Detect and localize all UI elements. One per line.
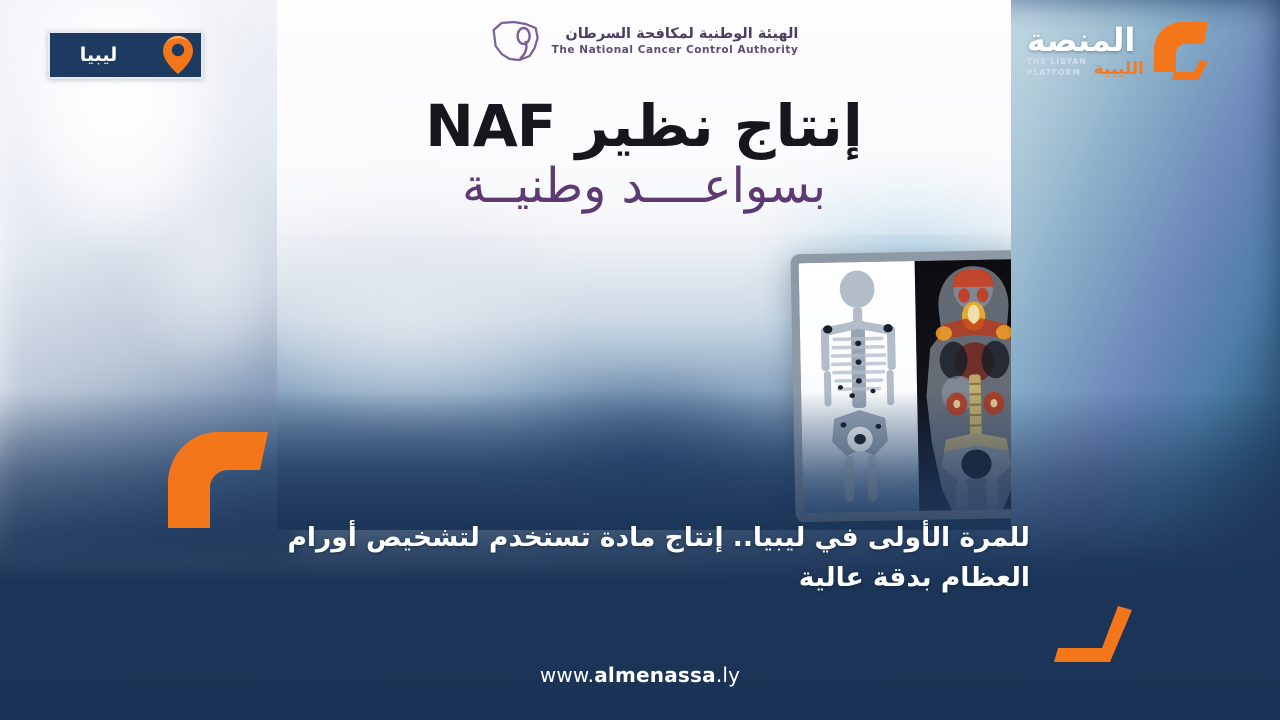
authority-header: الهيئة الوطنية لمكافحة السرطان The Natio…: [490, 18, 799, 64]
authority-name-english: The National Cancer Control Authority: [552, 44, 799, 56]
brand-name-english-line1: THE LIBYAN: [1027, 57, 1087, 67]
brand-name-arabic: المنصة: [1027, 24, 1144, 56]
authority-name-arabic: الهيئة الوطنية لمكافحة السرطان: [552, 26, 799, 43]
url-brand: almenassa: [594, 663, 716, 687]
brand-name-english: THE LIBYAN PLATFORM: [1027, 57, 1087, 77]
url-tld: .ly: [716, 663, 740, 687]
headline-acronym: NAF: [425, 92, 555, 160]
headline-main-arabic: إنتاج نظير: [576, 92, 863, 160]
location-badge-label: ليبيا: [50, 44, 153, 66]
brand-name-english-line2: PLATFORM: [1027, 68, 1087, 78]
libya-map-outline-icon: [490, 18, 542, 64]
brand-wordmark: المنصة الليبية THE LIBYAN PLATFORM: [1027, 24, 1144, 77]
url-prefix: www.: [540, 663, 594, 687]
caption-text: للمرة الأولى في ليبيا.. إنتاج مادة تستخد…: [250, 518, 1030, 598]
headline-main-line: إنتاج نظير NAF: [277, 96, 1011, 157]
location-badge[interactable]: ليبيا: [48, 31, 203, 79]
footer-website-url[interactable]: www.almenassa.ly: [0, 663, 1280, 687]
orange-hook-shape-icon: [160, 430, 272, 530]
headline-subtitle: بسواعــــد وطنيــة: [277, 161, 1011, 211]
brand-logo[interactable]: المنصة الليبية THE LIBYAN PLATFORM: [1027, 18, 1212, 84]
map-pin-icon: [161, 35, 195, 75]
orange-hook-mark-icon: [1150, 18, 1212, 84]
brand-name-arabic-secondary: الليبية: [1094, 61, 1144, 78]
authority-text-block: الهيئة الوطنية لمكافحة السرطان The Natio…: [552, 26, 799, 57]
orange-angle-shape-icon: [1048, 604, 1134, 666]
poster-headline: إنتاج نظير NAF بسواعــــد وطنيــة: [277, 96, 1011, 212]
brand-secondary-row: الليبية THE LIBYAN PLATFORM: [1027, 57, 1144, 77]
news-card: الهيئة الوطنية لمكافحة السرطان The Natio…: [0, 0, 1280, 720]
